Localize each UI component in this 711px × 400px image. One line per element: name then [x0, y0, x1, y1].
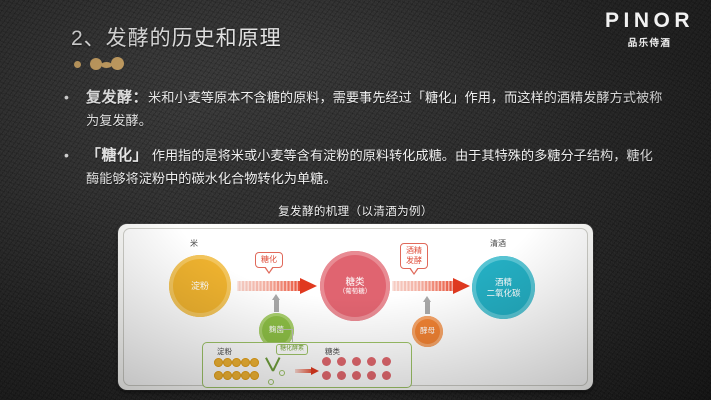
callout-tail-inner [265, 266, 273, 272]
callout-tail-inner [410, 267, 418, 273]
sugar-unit-icon [322, 357, 331, 366]
connector-horizontal [277, 329, 293, 330]
node-sugar-label: 糖类 [345, 277, 364, 288]
starch-unit-icon [250, 371, 259, 380]
bullet-body-2: 作用指的是将米或小麦等含有淀粉的原料转化成糖。由于其特殊的多糖分子结构，糖化酶能… [86, 148, 653, 186]
bullet-keyword-2: 「糖化」 [86, 147, 148, 164]
figure-caption: 复发酵的机理（以清酒为例） [0, 203, 711, 219]
callout-fermentation-label-1: 酒精 [406, 246, 422, 256]
starch-unit-icon [241, 371, 250, 380]
brand-logo: PINOR 品乐侍酒 [605, 10, 694, 49]
sugar-dot-row [322, 371, 391, 380]
scissors-blade-right [272, 357, 280, 371]
arrow-enzyme-conversion-icon [295, 367, 319, 375]
node-sugar: 糖类 （葡萄糖） [320, 251, 390, 321]
sugar-unit-icon [352, 371, 361, 380]
node-yeast-label: 酵母 [420, 327, 435, 336]
starch-unit-icon [223, 371, 232, 380]
starch-unit-icon [250, 358, 259, 367]
scissors-ring [268, 379, 274, 385]
sugar-unit-icon [382, 371, 391, 380]
subpanel-starch-label: 淀粉 [217, 346, 232, 357]
decorative-dots [74, 57, 214, 73]
subpanel-sugar-label: 糖类 [325, 346, 340, 357]
bullet-marker: • [64, 86, 86, 132]
fermentation-diagram: 米 清酒 淀粉 糖类 （葡萄糖） 酒精 二氧化碳 麴菌 酵母 [118, 224, 593, 390]
logo-tagline: 品乐侍酒 [605, 35, 694, 49]
page-title: 2、发酵的历史和原理 [71, 22, 282, 52]
arrow-fermentation-icon [392, 278, 470, 294]
logo-brand-text: PINOR [605, 10, 694, 31]
node-alcohol: 酒精 二氧化碳 [472, 256, 535, 319]
dot-small-icon [74, 61, 81, 68]
starch-unit-icon [232, 371, 241, 380]
arrow-shaft [237, 281, 301, 291]
starch-unit-icon [223, 358, 232, 367]
slide-canvas: PINOR 品乐侍酒 2、发酵的历史和原理 • 复发酵：米和小麦等原本不含糖的原… [0, 0, 711, 400]
sugar-unit-icon [337, 371, 346, 380]
sugar-unit-icon [382, 357, 391, 366]
enzyme-scissors-icon [263, 356, 285, 386]
sugar-unit-icon [352, 357, 361, 366]
arrow-head [300, 278, 317, 294]
bullet-body-1: 米和小麦等原本不含糖的原料，需要事先经过「糖化」作用，而这样的酒精发酵方式被称为… [86, 90, 662, 128]
arrow-head [311, 367, 319, 375]
bullet-separator-1: ： [133, 89, 149, 106]
bullet-item-2: • 「糖化」 作用指的是将米或小麦等含有淀粉的原料转化成糖。由于其特殊的多糖分子… [64, 144, 664, 190]
diagram-frame: 米 清酒 淀粉 糖类 （葡萄糖） 酒精 二氧化碳 麴菌 酵母 [123, 228, 588, 386]
node-starch: 淀粉 [169, 255, 231, 317]
up-arrow-stem [274, 299, 279, 312]
node-sugar-sublabel: （葡萄糖） [339, 288, 372, 296]
callout-alcohol-fermentation: 酒精 发酵 [400, 243, 428, 269]
enzyme-detail-panel: 淀粉 糖类 糖化酵素 [202, 342, 412, 388]
starch-chain-row [214, 371, 259, 380]
scissors-ring [279, 370, 285, 376]
sugar-unit-icon [322, 371, 331, 380]
arrow-shaft [295, 369, 312, 373]
node-alcohol-label-2: 二氧化碳 [486, 288, 520, 298]
dot-large-icon [111, 57, 124, 70]
node-koji-label: 麴菌 [269, 326, 284, 335]
label-rice: 米 [190, 238, 198, 249]
starch-unit-icon [241, 358, 250, 367]
bullet-item-1: • 复发酵：米和小麦等原本不含糖的原料，需要事先经过「糖化」作用，而这样的酒精发… [64, 86, 664, 132]
callout-saccharification: 糖化 [255, 252, 283, 268]
sugar-unit-icon [337, 357, 346, 366]
bullet-text-2: 「糖化」 作用指的是将米或小麦等含有淀粉的原料转化成糖。由于其特殊的多糖分子结构… [86, 144, 664, 190]
bullet-text-1: 复发酵：米和小麦等原本不含糖的原料，需要事先经过「糖化」作用，而这样的酒精发酵方… [86, 86, 664, 132]
callout-enzyme: 糖化酵素 [276, 344, 308, 355]
bullet-keyword-1: 复发酵 [86, 89, 133, 106]
callout-saccharification-label: 糖化 [261, 255, 277, 264]
starch-unit-icon [232, 358, 241, 367]
arrow-shaft [392, 281, 454, 291]
connector-vertical [292, 329, 293, 343]
starch-chain-row [214, 358, 259, 367]
arrow-saccharification-icon [237, 278, 317, 294]
sugar-unit-icon [367, 371, 376, 380]
bullet-marker: • [64, 144, 86, 190]
node-yeast: 酵母 [412, 316, 443, 347]
up-arrow-stem [425, 301, 430, 314]
label-sake: 清酒 [490, 238, 506, 249]
starch-unit-icon [214, 358, 223, 367]
node-alcohol-label-1: 酒精 [495, 277, 512, 287]
arrow-head [453, 278, 470, 294]
sugar-unit-icon [367, 357, 376, 366]
node-starch-label: 淀粉 [191, 281, 209, 292]
callout-fermentation-label-2: 发酵 [406, 256, 422, 266]
starch-unit-icon [214, 371, 223, 380]
sugar-dot-row [322, 357, 391, 366]
bullet-list: • 复发酵：米和小麦等原本不含糖的原料，需要事先经过「糖化」作用，而这样的酒精发… [64, 86, 664, 201]
